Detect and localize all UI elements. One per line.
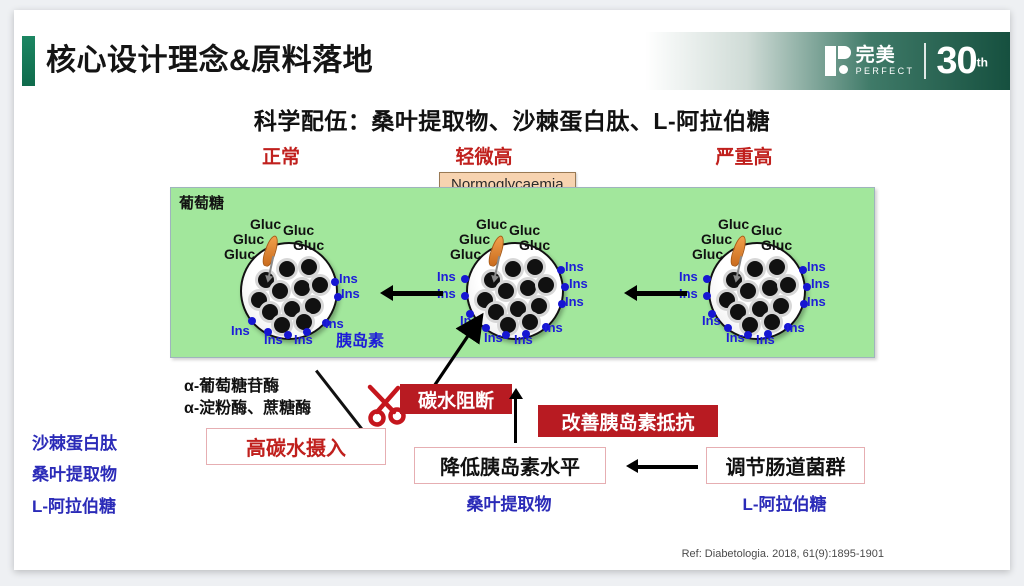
reference-citation: Ref: Diabetologia. 2018, 61(9):1895-1901 [14,548,1010,560]
formula-subtitle: 科学配伍：桑叶提取物、沙棘蛋白肽、L-阿拉伯糖 [14,102,1010,136]
gluc-token: Gluc [459,231,490,247]
gluc-token: Gluc [519,237,550,253]
gluc-token: Gluc [761,237,792,253]
ins-token: Ins [569,276,588,291]
glycaemia-diagram-panel: 葡萄糖 胰岛素 Gluc Gluc Gluc G [170,187,875,358]
ins-token: Ins [565,259,584,274]
enzyme-line-2: α-淀粉酶、蔗糖酶 [184,398,311,420]
logo-divider [924,43,926,79]
ingredient-item-3: L-阿拉伯糖 [32,491,117,522]
ins-token: Ins [544,320,563,335]
ins-token: Ins [786,320,805,335]
brand-name-en: PERFECT [856,67,915,76]
ins-token: Ins [264,332,283,347]
gluc-token: Gluc [476,216,507,232]
ins-token: Ins [679,269,698,284]
gluc-token: Gluc [224,246,255,262]
ins-token: Ins [756,332,775,347]
ins-token: Ins [294,332,313,347]
gluc-token: Gluc [751,222,782,238]
caption-gut-flora: L-阿拉伯糖 [706,490,863,515]
carb-pathway-line [315,370,367,436]
gluc-token: Gluc [450,246,481,262]
enzyme-line-1: α-葡萄糖苷酶 [184,376,311,398]
gluc-token: Gluc [701,231,732,247]
gluc-token: Gluc [293,237,324,253]
slide-header: 核心设计理念&原料落地 完美 PERFECT 30th [14,32,1010,90]
ins-token: Ins [807,294,826,309]
carb-block-badge: 碳水阻断 [400,384,512,414]
gluc-token: Gluc [233,231,264,247]
regulate-gut-flora-box: 调节肠道菌群 [706,447,865,484]
ins-token: Ins [231,323,250,338]
ins-token: Ins [565,294,584,309]
header-accent-bar [22,36,35,86]
ingredient-list: 沙棘蛋白肽 桑叶提取物 L-阿拉伯糖 [32,428,117,522]
improve-insulin-resistance-badge: 改善胰岛素抵抗 [538,405,718,437]
ins-token: Ins [811,276,830,291]
caption-lower-insulin: 桑叶提取物 [414,490,604,515]
ins-token: Ins [437,269,456,284]
stage-label-normal: 正常 [221,142,341,169]
ingredient-item-1: 沙棘蛋白肽 [32,428,117,459]
gluc-token: Gluc [250,216,281,232]
gluc-token: Gluc [718,216,749,232]
brand-glyph-icon [825,46,851,76]
ins-token: Ins [339,271,358,286]
anniversary-suffix: th [977,56,988,70]
slide-canvas: 核心设计理念&原料落地 完美 PERFECT 30th 科学配 [14,10,1010,570]
lower-insulin-level-box: 降低胰岛素水平 [414,447,606,484]
ins-token: Ins [702,313,721,328]
beta-cell-normal: Gluc Gluc Gluc Gluc Gluc Ins Ins Ins Ins… [226,218,344,336]
gluc-token: Gluc [283,222,314,238]
brand-logo-banner: 完美 PERFECT 30th [645,32,1010,90]
ins-token: Ins [514,332,533,347]
gluc-token: Gluc [509,222,540,238]
stage-label-severe-high: 严重高 [684,142,804,169]
stage-label-mild-high: 轻微高 [424,142,544,169]
perfect-logo: 完美 PERFECT [825,46,915,76]
anniversary-number: 30 [936,40,976,82]
enzyme-list: α-葡萄糖苷酶 α-淀粉酶、蔗糖酶 [184,376,311,419]
glucose-panel-label: 葡萄糖 [179,192,224,213]
gluc-token: Gluc [692,246,723,262]
ins-token: Ins [325,316,344,331]
ins-token: Ins [726,330,745,345]
ins-token: Ins [341,286,360,301]
page-title: 核心设计理念&原料落地 [46,38,373,84]
ingredient-item-2: 桑叶提取物 [32,459,117,490]
arrow-up-to-cell [514,398,517,443]
brand-dot-icon [839,65,848,74]
beta-cell-severe-high: Gluc Gluc Gluc Gluc Gluc Ins Ins Ins Ins… [694,218,812,336]
brand-name-cn: 完美 [856,46,915,65]
ins-token: Ins [807,259,826,274]
high-carb-intake-box: 高碳水摄入 [206,428,386,465]
